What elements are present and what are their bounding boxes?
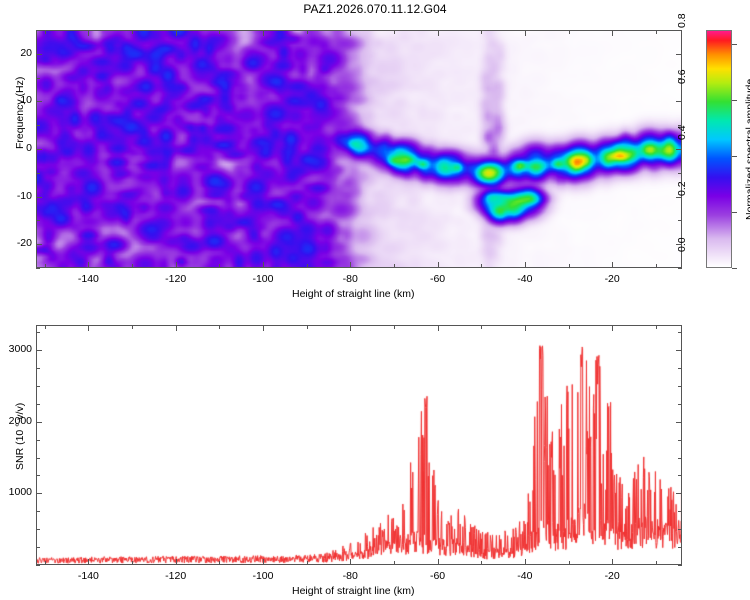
snr-x-axis-label: Height of straight line (km): [292, 585, 415, 597]
x-axis-tick: [612, 559, 613, 565]
x-axis-minor-tick: [481, 30, 482, 34]
x-axis-minor-tick: [656, 30, 657, 34]
y-axis-minor-tick: [678, 565, 682, 566]
x-axis-minor-tick: [569, 561, 570, 565]
x-axis-minor-tick: [394, 325, 395, 329]
y-axis-minor-tick: [678, 547, 682, 548]
x-axis-minor-tick: [569, 30, 570, 34]
y-axis-minor-tick: [678, 220, 682, 221]
y-axis-tick: [36, 350, 42, 351]
x-axis-minor-tick: [394, 264, 395, 268]
y-axis-minor-tick: [36, 368, 40, 369]
x-axis-minor-tick: [219, 264, 220, 268]
y-axis-minor-tick: [678, 475, 682, 476]
colorbar-tick: [732, 44, 737, 45]
y-axis-minor-tick: [678, 404, 682, 405]
x-axis-tick-label: -60: [420, 570, 456, 582]
snr-plot-area[interactable]: [36, 325, 682, 565]
y-axis-minor-tick: [36, 332, 40, 333]
x-axis-minor-tick: [132, 30, 133, 34]
colorbar-tick-label: 0.6: [676, 54, 688, 84]
x-axis-tick: [263, 262, 264, 268]
colorbar-tick-label: 0.2: [676, 166, 688, 196]
x-axis-tick: [263, 30, 264, 36]
x-axis-tick: [176, 559, 177, 565]
colorbar-tick: [732, 156, 737, 157]
colorbar-label: Normalized spectral amplitude: [744, 79, 750, 220]
spectrogram-y-axis-label: Frequency (Hz): [14, 77, 26, 149]
x-axis-tick: [525, 30, 526, 36]
x-axis-tick-label: -20: [594, 273, 630, 285]
y-axis-tick: [36, 244, 42, 245]
x-axis-tick: [263, 325, 264, 331]
y-axis-minor-tick: [678, 30, 682, 31]
snr-line-trace: [37, 326, 682, 565]
x-axis-tick: [525, 262, 526, 268]
y-axis-tick: [36, 101, 42, 102]
y-axis-tick: [676, 101, 682, 102]
x-axis-minor-tick: [481, 325, 482, 329]
x-axis-tick: [438, 30, 439, 36]
x-axis-minor-tick: [219, 30, 220, 34]
x-axis-tick: [350, 325, 351, 331]
x-axis-tick-label: -60: [420, 273, 456, 285]
y-axis-minor-tick: [36, 30, 40, 31]
x-axis-minor-tick: [219, 325, 220, 329]
x-axis-minor-tick: [132, 264, 133, 268]
x-axis-tick-label: -120: [158, 570, 194, 582]
x-axis-tick-label: -100: [245, 273, 281, 285]
x-axis-minor-tick: [45, 30, 46, 34]
y-axis-tick-label: 3000: [2, 343, 32, 355]
y-axis-minor-tick: [36, 529, 40, 530]
y-axis-tick: [36, 149, 42, 150]
x-axis-tick-label: -100: [245, 570, 281, 582]
y-axis-tick-label: 20: [4, 47, 32, 59]
colorbar[interactable]: [706, 30, 732, 268]
x-axis-tick: [525, 559, 526, 565]
x-axis-minor-tick: [656, 325, 657, 329]
y-axis-tick: [36, 493, 42, 494]
x-axis-tick: [612, 262, 613, 268]
x-axis-tick-label: -40: [507, 570, 543, 582]
figure-title: PAZ1.2026.070.11.12.G04: [0, 2, 750, 16]
x-axis-tick: [438, 325, 439, 331]
y-axis-minor-tick: [36, 547, 40, 548]
x-axis-minor-tick: [307, 30, 308, 34]
y-axis-minor-tick: [36, 404, 40, 405]
x-axis-minor-tick: [569, 264, 570, 268]
x-axis-minor-tick: [307, 325, 308, 329]
y-axis-minor-tick: [678, 458, 682, 459]
y-axis-tick: [36, 54, 42, 55]
colorbar-tick-label: 0.8: [676, 0, 688, 28]
y-axis-minor-tick: [36, 458, 40, 459]
y-axis-minor-tick: [36, 125, 40, 126]
x-axis-tick: [438, 262, 439, 268]
colorbar-tick-label: 0.0: [676, 222, 688, 252]
x-axis-tick: [263, 559, 264, 565]
y-axis-tick-label: -10: [4, 190, 32, 202]
x-axis-tick: [612, 30, 613, 36]
x-axis-minor-tick: [394, 30, 395, 34]
x-axis-tick: [176, 262, 177, 268]
y-axis-tick: [676, 350, 682, 351]
y-axis-tick: [676, 422, 682, 423]
x-axis-tick: [88, 30, 89, 36]
y-axis-tick: [36, 422, 42, 423]
y-axis-minor-tick: [36, 475, 40, 476]
y-axis-minor-tick: [36, 268, 40, 269]
x-axis-tick-label: -140: [70, 273, 106, 285]
x-axis-minor-tick: [656, 264, 657, 268]
x-axis-tick: [438, 559, 439, 565]
x-axis-tick: [350, 30, 351, 36]
x-axis-tick-label: -40: [507, 273, 543, 285]
y-axis-minor-tick: [678, 332, 682, 333]
x-axis-tick: [176, 30, 177, 36]
x-axis-minor-tick: [132, 561, 133, 565]
spectrogram-x-axis-label: Height of straight line (km): [292, 288, 415, 300]
x-axis-tick: [525, 325, 526, 331]
x-axis-minor-tick: [656, 561, 657, 565]
x-axis-minor-tick: [481, 561, 482, 565]
y-axis-tick: [36, 197, 42, 198]
x-axis-tick-label: -140: [70, 570, 106, 582]
y-axis-minor-tick: [678, 268, 682, 269]
y-axis-tick-label: -20: [4, 237, 32, 249]
x-axis-tick: [176, 325, 177, 331]
colorbar-tick: [732, 212, 737, 213]
x-axis-minor-tick: [45, 325, 46, 329]
x-axis-tick: [350, 559, 351, 565]
x-axis-minor-tick: [569, 325, 570, 329]
y-axis-minor-tick: [36, 386, 40, 387]
figure-root: PAZ1.2026.070.11.12.G04 -140-120-100-80-…: [0, 0, 750, 600]
x-axis-minor-tick: [307, 264, 308, 268]
colorbar-gradient: [707, 31, 731, 267]
colorbar-tick-label: 0.4: [676, 110, 688, 140]
x-axis-minor-tick: [219, 561, 220, 565]
x-axis-tick: [88, 559, 89, 565]
y-axis-minor-tick: [36, 173, 40, 174]
x-axis-minor-tick: [307, 561, 308, 565]
y-axis-minor-tick: [678, 386, 682, 387]
x-axis-tick-label: -20: [594, 570, 630, 582]
y-axis-tick: [676, 197, 682, 198]
y-axis-minor-tick: [36, 511, 40, 512]
x-axis-minor-tick: [45, 561, 46, 565]
y-axis-minor-tick: [678, 511, 682, 512]
y-axis-tick: [676, 149, 682, 150]
x-axis-tick: [350, 262, 351, 268]
x-axis-minor-tick: [132, 325, 133, 329]
y-axis-tick-label: 1000: [2, 486, 32, 498]
colorbar-tick: [732, 268, 737, 269]
x-axis-minor-tick: [45, 264, 46, 268]
y-axis-tick: [676, 493, 682, 494]
x-axis-tick-label: -80: [332, 570, 368, 582]
colorbar-tick: [732, 100, 737, 101]
snr-y-axis-label: SNR (10 ° v/v): [14, 403, 26, 470]
x-axis-minor-tick: [394, 561, 395, 565]
x-axis-tick: [88, 262, 89, 268]
x-axis-minor-tick: [481, 264, 482, 268]
y-axis-minor-tick: [36, 78, 40, 79]
y-axis-minor-tick: [36, 565, 40, 566]
x-axis-tick: [612, 325, 613, 331]
spectrogram-image: [37, 31, 682, 268]
y-axis-minor-tick: [678, 440, 682, 441]
spectrogram-plot-area[interactable]: [36, 30, 682, 268]
y-axis-minor-tick: [36, 220, 40, 221]
x-axis-tick-label: -120: [158, 273, 194, 285]
y-axis-minor-tick: [36, 440, 40, 441]
x-axis-tick-label: -80: [332, 273, 368, 285]
y-axis-minor-tick: [678, 529, 682, 530]
x-axis-tick: [88, 325, 89, 331]
y-axis-minor-tick: [678, 368, 682, 369]
